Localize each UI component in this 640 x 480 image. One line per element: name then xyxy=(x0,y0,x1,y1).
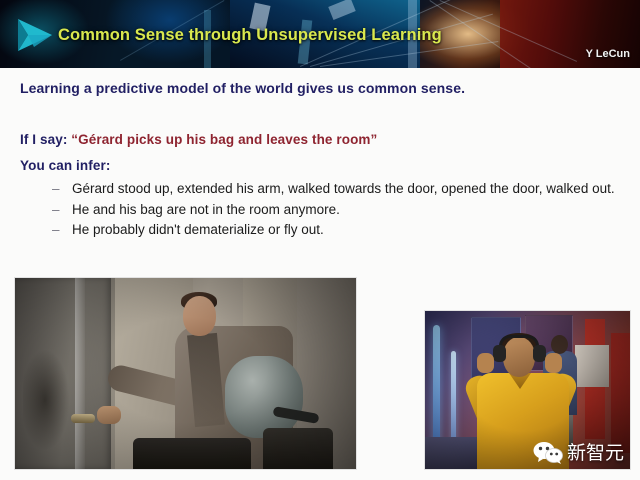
slide-title: Common Sense through Unsupervised Learni… xyxy=(58,26,442,45)
photo-man-with-bag xyxy=(14,277,357,470)
if-i-say-label: If I say: xyxy=(20,132,67,147)
arrow-right-icon xyxy=(14,13,58,57)
slide-root: Common Sense through Unsupervised Learni… xyxy=(0,0,640,480)
list-item-text: He and his bag are not in the room anymo… xyxy=(72,202,340,217)
list-item-text: Gérard stood up, extended his arm, walke… xyxy=(72,181,615,196)
bullet-dash-icon: – xyxy=(52,221,60,239)
slide-header: Common Sense through Unsupervised Learni… xyxy=(0,0,640,68)
bullet-dash-icon: – xyxy=(52,201,60,219)
inference-bullet-list: – Gérard stood up, extended his arm, wal… xyxy=(52,180,622,242)
slide-author: Y LeCun xyxy=(586,48,630,60)
watermark-text: 新智元 xyxy=(567,444,624,463)
if-i-say-quote: “Gérard picks up his bag and leaves the … xyxy=(71,132,377,147)
photo-left-vignette xyxy=(15,278,356,469)
wechat-icon xyxy=(533,441,563,465)
list-item: – He and his bag are not in the room any… xyxy=(52,201,622,219)
watermark: 新智元 xyxy=(533,441,624,465)
list-item-text: He probably didn't dematerialize or fly … xyxy=(72,222,324,237)
list-item: – Gérard stood up, extended his arm, wal… xyxy=(52,180,622,198)
photo-man-with-headphones: 新智元 xyxy=(424,310,631,470)
if-i-say-line: If I say: “Gérard picks up his bag and l… xyxy=(20,132,377,147)
bullet-dash-icon: – xyxy=(52,180,60,198)
you-can-infer-label: You can infer: xyxy=(20,158,110,173)
lead-statement: Learning a predictive model of the world… xyxy=(20,80,465,96)
list-item: – He probably didn't dematerialize or fl… xyxy=(52,221,622,239)
